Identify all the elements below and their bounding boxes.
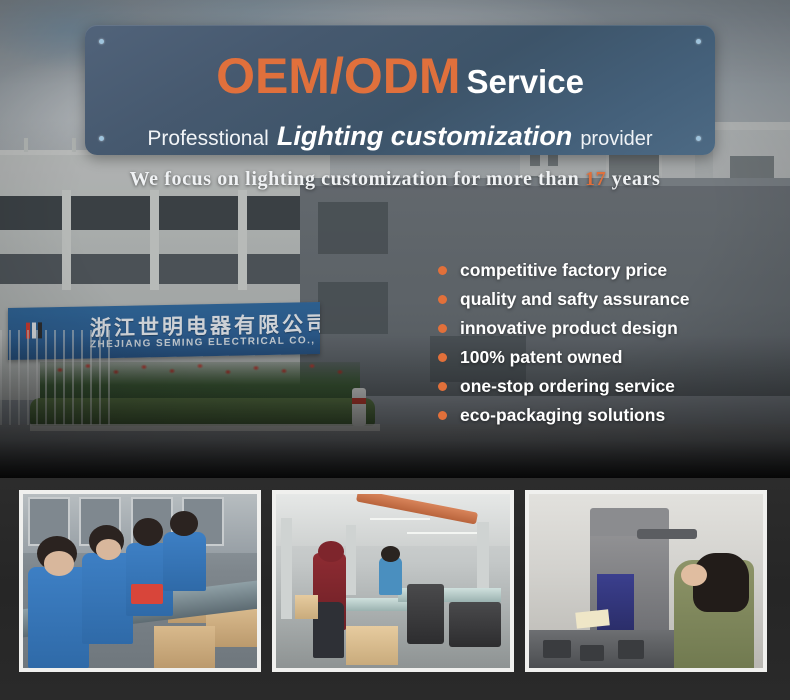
- list-item-label: one-stop ordering service: [460, 376, 675, 397]
- list-item: one-stop ordering service: [438, 372, 768, 401]
- list-item: quality and safty assurance: [438, 285, 768, 314]
- subheadline-pre: Professtional: [147, 127, 268, 150]
- list-item: innovative product design: [438, 314, 768, 343]
- list-item: 100% patent owned: [438, 343, 768, 372]
- list-item: competitive factory price: [438, 256, 768, 285]
- workshop-photo-2: [272, 490, 514, 672]
- subheadline-row: ProfesstionalLighting customizationprovi…: [85, 121, 715, 152]
- tagline-years-number: 17: [585, 168, 606, 190]
- selling-points-list: competitive factory price quality and sa…: [438, 256, 768, 430]
- subheadline-post: provider: [580, 128, 652, 150]
- headline-service: Service: [467, 63, 584, 100]
- bullet-dot-icon: [438, 295, 447, 304]
- list-item-label: innovative product design: [460, 318, 678, 339]
- list-item-label: eco-packaging solutions: [460, 405, 665, 426]
- subheadline-emphasis: Lighting customization: [277, 121, 572, 151]
- headline-row: OEM/ODMService: [85, 47, 715, 105]
- workshop-photo-3: [525, 490, 767, 672]
- headline-plaque: OEM/ODMService ProfesstionalLighting cus…: [85, 25, 715, 155]
- bullet-dot-icon: [438, 382, 447, 391]
- bullet-dot-icon: [438, 266, 447, 275]
- screw-icon-top-right: [696, 39, 701, 44]
- bullet-dot-icon: [438, 324, 447, 333]
- bullet-dot-icon: [438, 353, 447, 362]
- promo-banner-image: 浙江世明电器有限公司 ZHEJIANG SEMING ELECTRICAL CO…: [0, 0, 790, 700]
- list-item-label: competitive factory price: [460, 260, 667, 281]
- workshop-photo-strip: [0, 478, 790, 700]
- list-item: eco-packaging solutions: [438, 401, 768, 430]
- experience-tagline: We focus on lighting customization for m…: [0, 168, 790, 191]
- tagline-pre: We focus on lighting customization for m…: [130, 168, 580, 190]
- list-item-label: quality and safty assurance: [460, 289, 690, 310]
- workshop-photo-1: [19, 490, 261, 672]
- headline-oem-odm: OEM/ODM: [216, 48, 460, 104]
- bullet-dot-icon: [438, 411, 447, 420]
- screw-icon-top-left: [99, 39, 104, 44]
- tagline-post: years: [612, 168, 661, 190]
- list-item-label: 100% patent owned: [460, 347, 622, 368]
